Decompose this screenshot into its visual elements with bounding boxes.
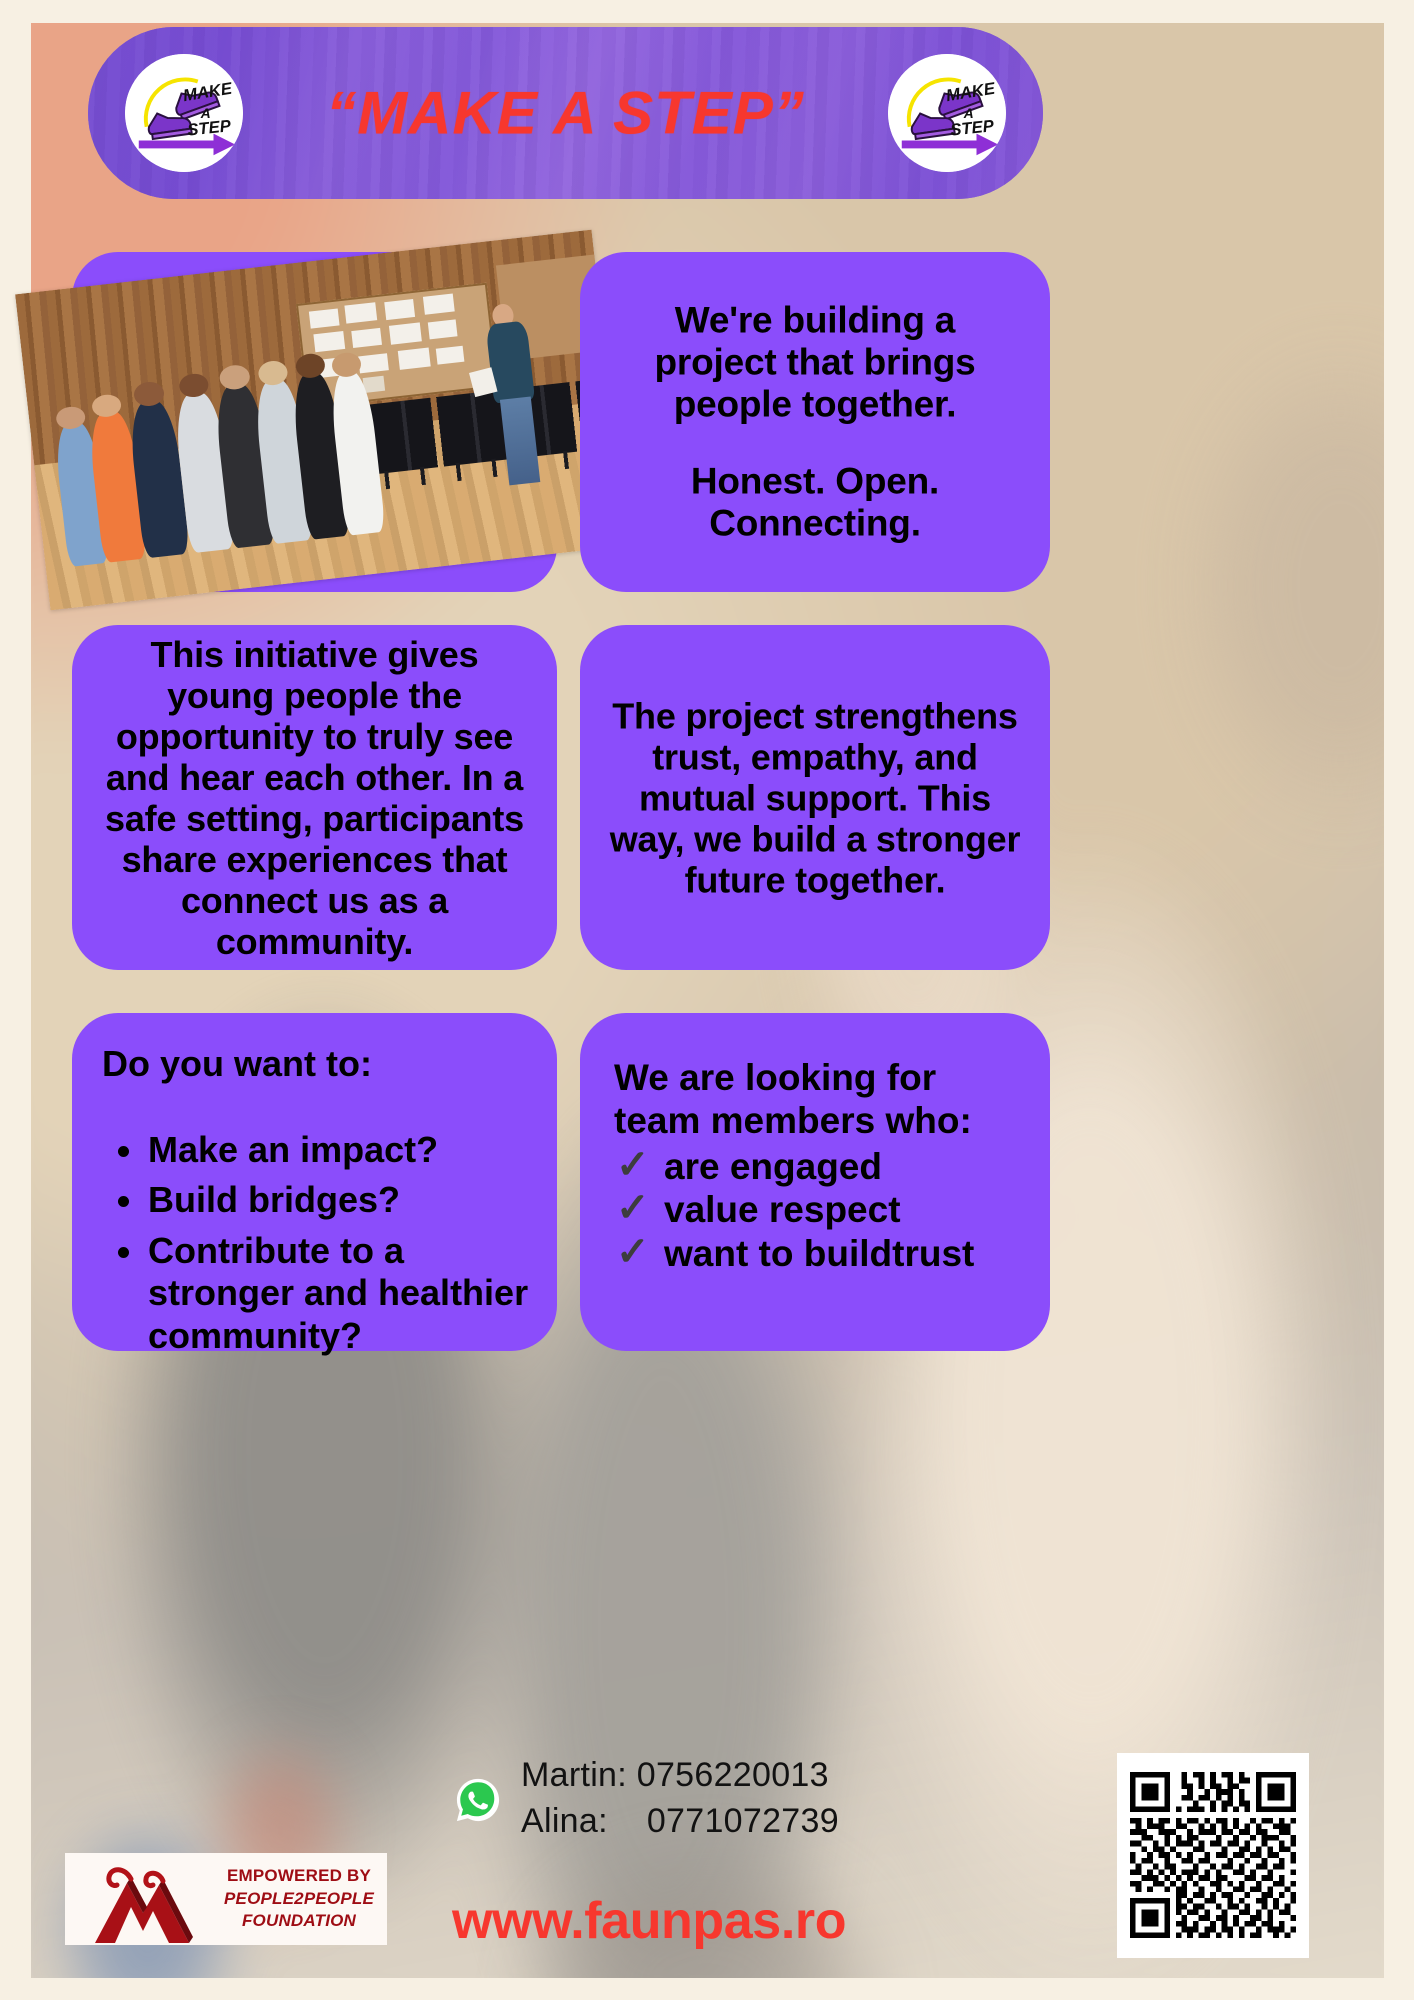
check-icon: ✓ bbox=[616, 1235, 652, 1271]
contact-alina: Alina: 0771072739 bbox=[521, 1799, 839, 1845]
initiative-text: This initiative gives young people the o… bbox=[98, 633, 531, 961]
list-item: ✓ value respect bbox=[614, 1188, 1034, 1232]
foundation-mark-icon bbox=[65, 1855, 215, 1943]
intro-line-1: We're building a bbox=[675, 300, 955, 341]
looking-for-card: We are looking for team members who: ✓ a… bbox=[580, 1013, 1050, 1351]
check-icon: ✓ bbox=[616, 1191, 652, 1227]
list-item: Contribute to a stronger and healthier c… bbox=[92, 1230, 539, 1357]
foundation-text: EMPOWERED BY PEOPLE2PEOPLE FOUNDATION bbox=[215, 1865, 387, 1933]
strengthens-card: The project strengthens trust, empathy, … bbox=[580, 625, 1050, 970]
group-hug-photo bbox=[15, 230, 627, 611]
list-item: ✓ want to buildtrust bbox=[614, 1232, 1034, 1276]
check-icon: ✓ bbox=[616, 1148, 652, 1184]
foundation-line-2: PEOPLE2PEOPLE bbox=[215, 1888, 383, 1911]
whatsapp-icon[interactable] bbox=[455, 1777, 501, 1823]
strengthens-text: The project strengthens trust, empathy, … bbox=[606, 695, 1024, 900]
photo-card bbox=[72, 252, 557, 592]
website-url[interactable]: www.faunpas.ro bbox=[452, 1891, 846, 1951]
foundation-line-3: FOUNDATION bbox=[215, 1910, 383, 1933]
list-item: Build bridges? bbox=[92, 1179, 539, 1221]
list-item-label: value respect bbox=[664, 1189, 901, 1230]
do-you-want-to-heading: Do you want to: bbox=[92, 1043, 539, 1085]
list-item-label: want to buildtrust bbox=[664, 1233, 974, 1274]
looking-for-heading: We are looking for team members who: bbox=[614, 1057, 1034, 1143]
list-item: ✓ are engaged bbox=[614, 1145, 1034, 1189]
people2people-foundation-logo: EMPOWERED BY PEOPLE2PEOPLE FOUNDATION bbox=[65, 1853, 387, 1945]
contact-martin: Martin: 0756220013 bbox=[521, 1753, 839, 1799]
contact-block: Martin: 0756220013 Alina: 0771072739 bbox=[521, 1753, 839, 1844]
header-banner: MAKE A STEP MAKE bbox=[88, 27, 1043, 199]
intro-line-3: people together. bbox=[674, 384, 957, 425]
list-item: Make an impact? bbox=[92, 1129, 539, 1171]
initiative-card: This initiative gives young people the o… bbox=[72, 625, 557, 970]
looking-for-heading-line-1: We are looking for bbox=[614, 1057, 936, 1098]
intro-line-4: Honest. Open. bbox=[691, 460, 939, 501]
do-you-want-to-card: Do you want to: Make an impact? Build br… bbox=[72, 1013, 557, 1351]
looking-for-heading-line-2: team members who: bbox=[614, 1100, 972, 1141]
list-item-label: are engaged bbox=[664, 1146, 882, 1187]
do-you-want-to-list: Make an impact? Build bridges? Contribut… bbox=[92, 1129, 539, 1357]
intro-card: We're building a project that brings peo… bbox=[580, 252, 1050, 592]
intro-text: We're building a project that brings peo… bbox=[606, 300, 1024, 545]
poster-title: “MAKE A STEP” bbox=[88, 79, 1043, 148]
intro-line-2: project that brings bbox=[655, 342, 976, 383]
poster: MAKE A STEP MAKE bbox=[0, 0, 1414, 2000]
intro-line-5: Connecting. bbox=[709, 502, 921, 543]
looking-for-list: ✓ are engaged ✓ value respect ✓ want to … bbox=[614, 1145, 1034, 1276]
qr-code[interactable] bbox=[1117, 1753, 1309, 1958]
foundation-line-1: EMPOWERED BY bbox=[215, 1865, 383, 1888]
